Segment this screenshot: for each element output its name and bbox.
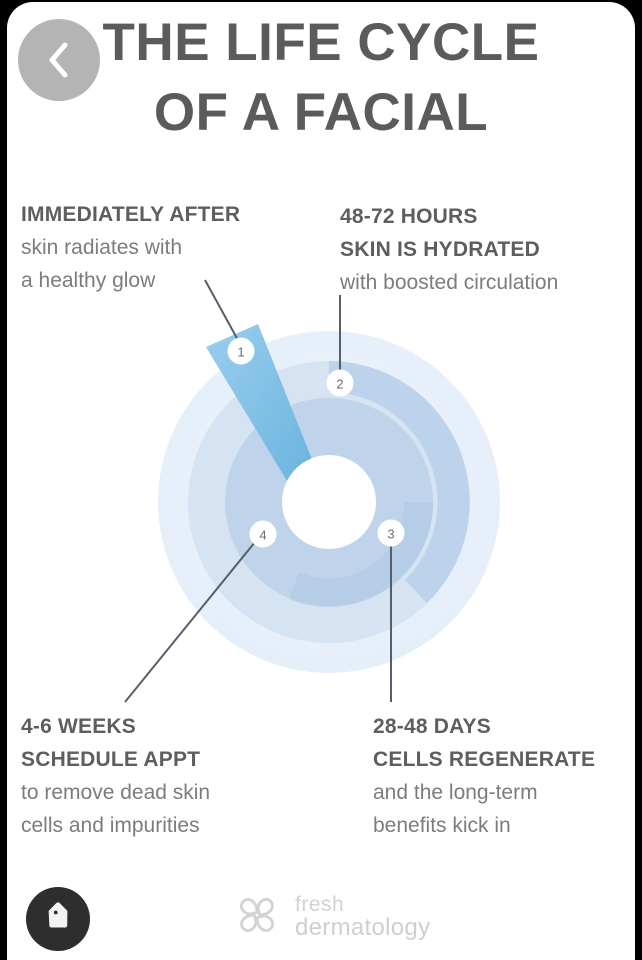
price-tag-icon bbox=[43, 902, 73, 937]
ring-mid bbox=[188, 361, 470, 643]
stage-3-time: 28-48 DAYS bbox=[373, 710, 595, 743]
brand-logo-text: fresh dermatology bbox=[295, 894, 430, 940]
ring-inner-band bbox=[289, 502, 433, 607]
brand-logo: fresh dermatology bbox=[230, 886, 450, 948]
badge-2-label: 2 bbox=[336, 377, 343, 392]
stage-2-time: 48-72 HOURS bbox=[340, 200, 558, 233]
brand-logo-line1: fresh bbox=[295, 894, 430, 915]
stage-4-time: 4-6 WEEKS bbox=[21, 710, 210, 743]
stage-3-headline: CELLS REGENERATE bbox=[373, 743, 595, 776]
stage-2-text: 48-72 HOURS SKIN IS HYDRATED with booste… bbox=[340, 200, 558, 299]
page-title-line1: THE LIFE CYCLE bbox=[7, 8, 635, 78]
ring-arc-band bbox=[329, 361, 470, 603]
brand-logo-line2: dermatology bbox=[295, 916, 430, 940]
badge-1-label: 1 bbox=[237, 345, 244, 360]
badge-2[interactable]: 2 bbox=[327, 370, 354, 397]
stage-4-text: 4-6 WEEKS SCHEDULE APPT to remove dead s… bbox=[21, 710, 210, 842]
back-button[interactable] bbox=[18, 19, 100, 101]
four-petal-flower-icon bbox=[230, 888, 284, 947]
chevron-left-icon bbox=[46, 40, 72, 80]
tag-button[interactable] bbox=[26, 887, 90, 951]
stage-2-body-line1: with boosted circulation bbox=[340, 266, 558, 299]
leader-line-4 bbox=[125, 542, 255, 702]
page-title: THE LIFE CYCLE OF A FACIAL bbox=[7, 8, 635, 148]
stage-2-headline: SKIN IS HYDRATED bbox=[340, 233, 558, 266]
active-wedge bbox=[206, 324, 329, 514]
badge-4-label: 4 bbox=[259, 528, 266, 543]
badge-1[interactable]: 1 bbox=[228, 338, 255, 365]
stage-1-body-line2: a healthy glow bbox=[21, 264, 240, 297]
stage-4-headline: SCHEDULE APPT bbox=[21, 743, 210, 776]
stage-3-body-line2: benefits kick in bbox=[373, 809, 595, 842]
screen: 1 2 3 4 THE LIFE CYCLE OF A FACIAL bbox=[0, 0, 642, 960]
ring-outer-halo bbox=[158, 331, 500, 673]
stage-1-body-line1: skin radiates with bbox=[21, 231, 240, 264]
badge-3-label: 3 bbox=[387, 527, 394, 542]
stage-1-time: IMMEDIATELY AFTER bbox=[21, 198, 240, 231]
stage-4-body-line2: cells and impurities bbox=[21, 809, 210, 842]
stage-4-body-line1: to remove dead skin bbox=[21, 776, 210, 809]
stage-3-body-line1: and the long-term bbox=[373, 776, 595, 809]
diagram-hub bbox=[282, 455, 376, 549]
badge-3[interactable]: 3 bbox=[378, 520, 405, 547]
content-card: 1 2 3 4 THE LIFE CYCLE OF A FACIAL bbox=[7, 2, 635, 960]
page-title-line2: OF A FACIAL bbox=[7, 78, 635, 148]
stage-1-text: IMMEDIATELY AFTER skin radiates with a h… bbox=[21, 198, 240, 297]
ring-inner bbox=[225, 398, 433, 606]
stage-3-text: 28-48 DAYS CELLS REGENERATE and the long… bbox=[373, 710, 595, 842]
badge-4[interactable]: 4 bbox=[250, 521, 277, 548]
